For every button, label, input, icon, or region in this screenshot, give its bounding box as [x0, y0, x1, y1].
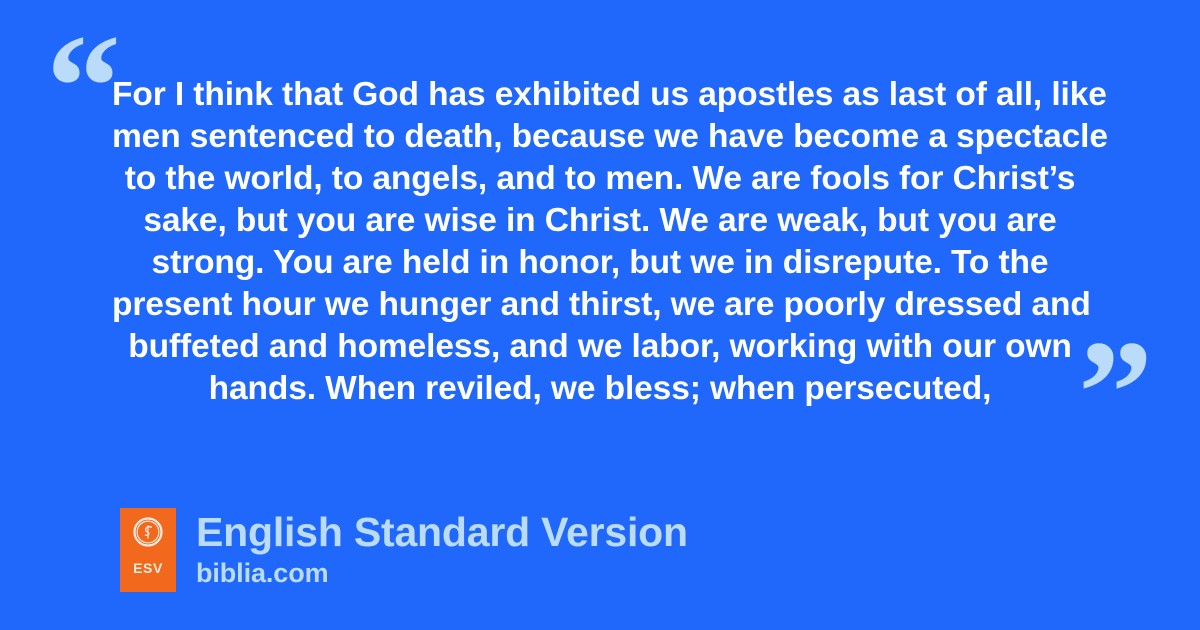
site-url[interactable]: biblia.com: [196, 557, 688, 589]
quote-line: strong. You are held in honor, but we in…: [112, 242, 1088, 284]
esv-badge-abbreviation: ESV: [133, 561, 163, 575]
quote-line: men sentenced to death, because we have …: [112, 116, 1088, 158]
quote-text: For I think that God has exhibited us ap…: [112, 74, 1088, 410]
esv-badge: ESV: [120, 508, 176, 592]
quote-line: hands. When reviled, we bless; when pers…: [112, 368, 1088, 410]
attribution-text: English Standard Version biblia.com: [196, 508, 688, 589]
attribution: ESV English Standard Version biblia.com: [120, 508, 688, 592]
quote-region: “ For I think that God has exhibited us …: [0, 0, 1200, 455]
quote-line: to the world, to angels, and to men. We …: [112, 158, 1088, 200]
quote-line: For I think that God has exhibited us ap…: [112, 74, 1088, 116]
esv-seal-icon: [133, 517, 163, 547]
opening-quote-mark-icon: “: [46, 12, 121, 162]
quote-line: buffeted and homeless, and we labor, wor…: [112, 326, 1088, 368]
quote-line: present hour we hunger and thirst, we ar…: [112, 284, 1088, 326]
closing-quote-mark-icon: ”: [1078, 318, 1153, 468]
bible-version-name: English Standard Version: [196, 509, 688, 555]
quote-line: sake, but you are wise in Christ. We are…: [112, 200, 1088, 242]
